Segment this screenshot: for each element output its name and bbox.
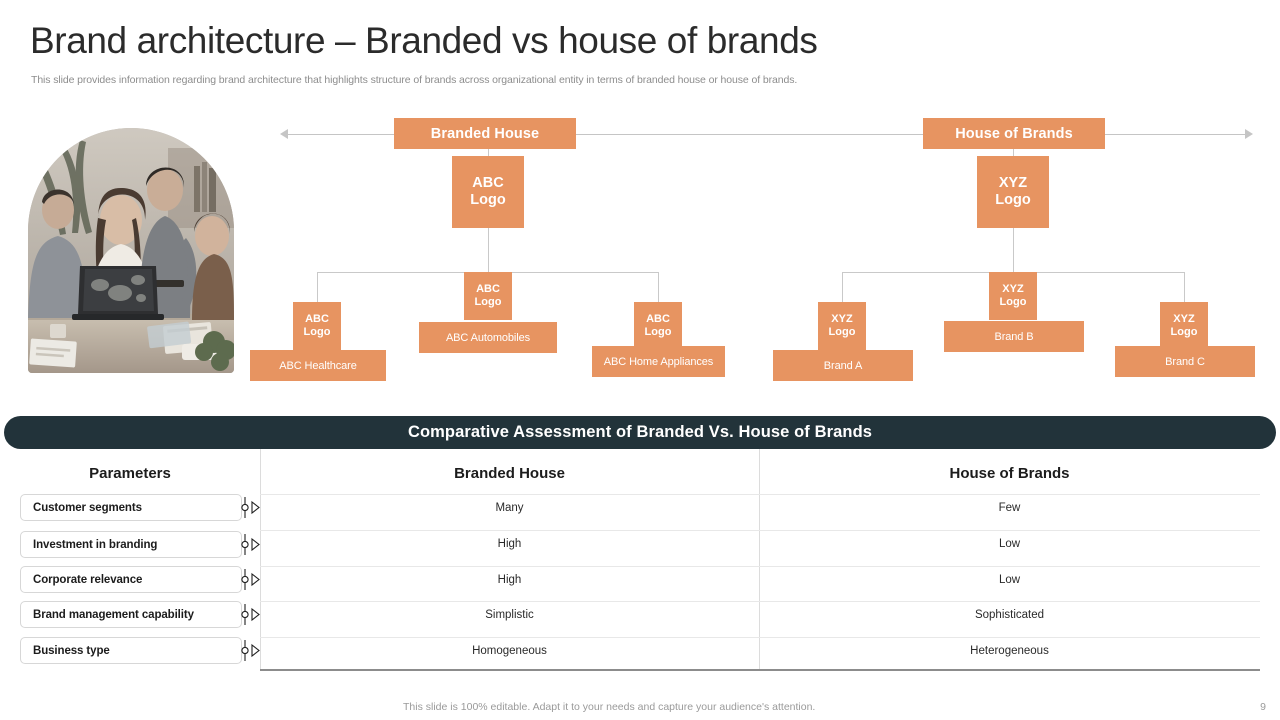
page-subtitle: This slide provides information regardin… xyxy=(31,74,797,86)
cell-branded-house: Simplistic xyxy=(260,601,759,628)
cell-house-of-brands: Few xyxy=(759,494,1260,521)
parent-logo-line2: Logo xyxy=(470,192,505,209)
comparison-table: Parameters Branded House House of Brands… xyxy=(0,449,1280,671)
cell-house-of-brands: Heterogeneous xyxy=(759,637,1260,664)
parameter-label: Customer segments xyxy=(33,502,142,514)
child-logo-line1: ABC xyxy=(476,283,500,296)
child-logo-line1: XYZ xyxy=(1002,283,1023,296)
hob-child-2-logo: XYZ Logo xyxy=(989,272,1037,320)
page-title: Brand architecture – Branded vs house of… xyxy=(30,20,817,62)
child-logo-line1: XYZ xyxy=(1173,313,1194,326)
cell-branded-house: High xyxy=(260,530,759,557)
table-header-parameters: Parameters xyxy=(0,457,260,489)
brand-architecture-diagram: Branded House ABC Logo ABC Logo ABC Heal… xyxy=(0,110,1280,395)
hob-child-3-logo: XYZ Logo xyxy=(1160,302,1208,350)
branded-house-heading: Branded House xyxy=(394,118,576,149)
arrow-left-icon xyxy=(280,129,288,139)
hob-child-1-logo: XYZ Logo xyxy=(818,302,866,350)
table-row[interactable]: Customer segments xyxy=(20,494,242,521)
branded-child-2-logo: ABC Logo xyxy=(464,272,512,320)
house-of-brands-parent-logo: XYZ Logo xyxy=(977,156,1049,228)
parent-logo-line1: XYZ xyxy=(999,175,1027,192)
table-header-house-of-brands: House of Brands xyxy=(759,457,1260,489)
branded-child-1-logo: ABC Logo xyxy=(293,302,341,350)
parameter-label: Business type xyxy=(33,645,110,657)
parameter-label: Corporate relevance xyxy=(33,574,142,586)
connector-bh-drop-1 xyxy=(317,272,318,304)
row-connector-icon xyxy=(240,601,262,628)
parent-logo-line2: Logo xyxy=(995,192,1030,209)
comparison-banner: Comparative Assessment of Branded Vs. Ho… xyxy=(4,416,1276,449)
hob-child-1-label: Brand A xyxy=(773,350,913,381)
axis-line-center xyxy=(576,134,923,135)
row-connector-icon xyxy=(240,637,262,664)
branded-child-2-label: ABC Automobiles xyxy=(419,322,557,353)
branded-child-1-label: ABC Healthcare xyxy=(250,350,386,381)
table-row[interactable]: Investment in branding xyxy=(20,531,242,558)
parameter-label: Investment in branding xyxy=(33,539,157,551)
parameter-label: Brand management capability xyxy=(33,609,194,621)
cell-branded-house: Homogeneous xyxy=(260,637,759,664)
branded-house-parent-logo: ABC Logo xyxy=(452,156,524,228)
footer-note: This slide is 100% editable. Adapt it to… xyxy=(403,701,815,713)
arrow-right-icon xyxy=(1245,129,1253,139)
hob-child-2-label: Brand B xyxy=(944,321,1084,352)
table-row[interactable]: Business type xyxy=(20,637,242,664)
connector-hob-drop-1 xyxy=(842,272,843,304)
cell-house-of-brands: Low xyxy=(759,566,1260,593)
cell-branded-house: High xyxy=(260,566,759,593)
branded-child-3-logo: ABC Logo xyxy=(634,302,682,350)
axis-line-right xyxy=(1105,134,1245,135)
child-logo-line1: XYZ xyxy=(831,313,852,326)
row-connector-icon xyxy=(240,566,262,593)
child-logo-line2: Logo xyxy=(475,296,502,309)
house-of-brands-heading: House of Brands xyxy=(923,118,1105,149)
row-connector-icon xyxy=(240,494,262,521)
connector-bh-drop-3 xyxy=(658,272,659,304)
branded-child-3-label: ABC Home Appliances xyxy=(592,346,725,377)
cell-house-of-brands: Sophisticated xyxy=(759,601,1260,628)
table-bottom-border xyxy=(260,669,1260,671)
cell-branded-house: Many xyxy=(260,494,759,521)
connector-bh-parent-drop xyxy=(488,228,489,273)
child-logo-line1: ABC xyxy=(305,313,329,326)
child-logo-line2: Logo xyxy=(645,326,672,339)
child-logo-line2: Logo xyxy=(1000,296,1027,309)
table-row[interactable]: Brand management capability xyxy=(20,601,242,628)
parent-logo-line1: ABC xyxy=(472,175,503,192)
connector-hob-drop-3 xyxy=(1184,272,1185,304)
child-logo-line2: Logo xyxy=(1171,326,1198,339)
cell-house-of-brands: Low xyxy=(759,530,1260,557)
row-connector-icon xyxy=(240,531,262,558)
connector-hob-parent-drop xyxy=(1013,228,1014,273)
child-logo-line2: Logo xyxy=(829,326,856,339)
child-logo-line2: Logo xyxy=(304,326,331,339)
table-header-branded-house: Branded House xyxy=(260,457,759,489)
axis-line-left xyxy=(288,134,394,135)
table-row[interactable]: Corporate relevance xyxy=(20,566,242,593)
page-number: 9 xyxy=(1260,701,1266,713)
child-logo-line1: ABC xyxy=(646,313,670,326)
hob-child-3-label: Brand C xyxy=(1115,346,1255,377)
